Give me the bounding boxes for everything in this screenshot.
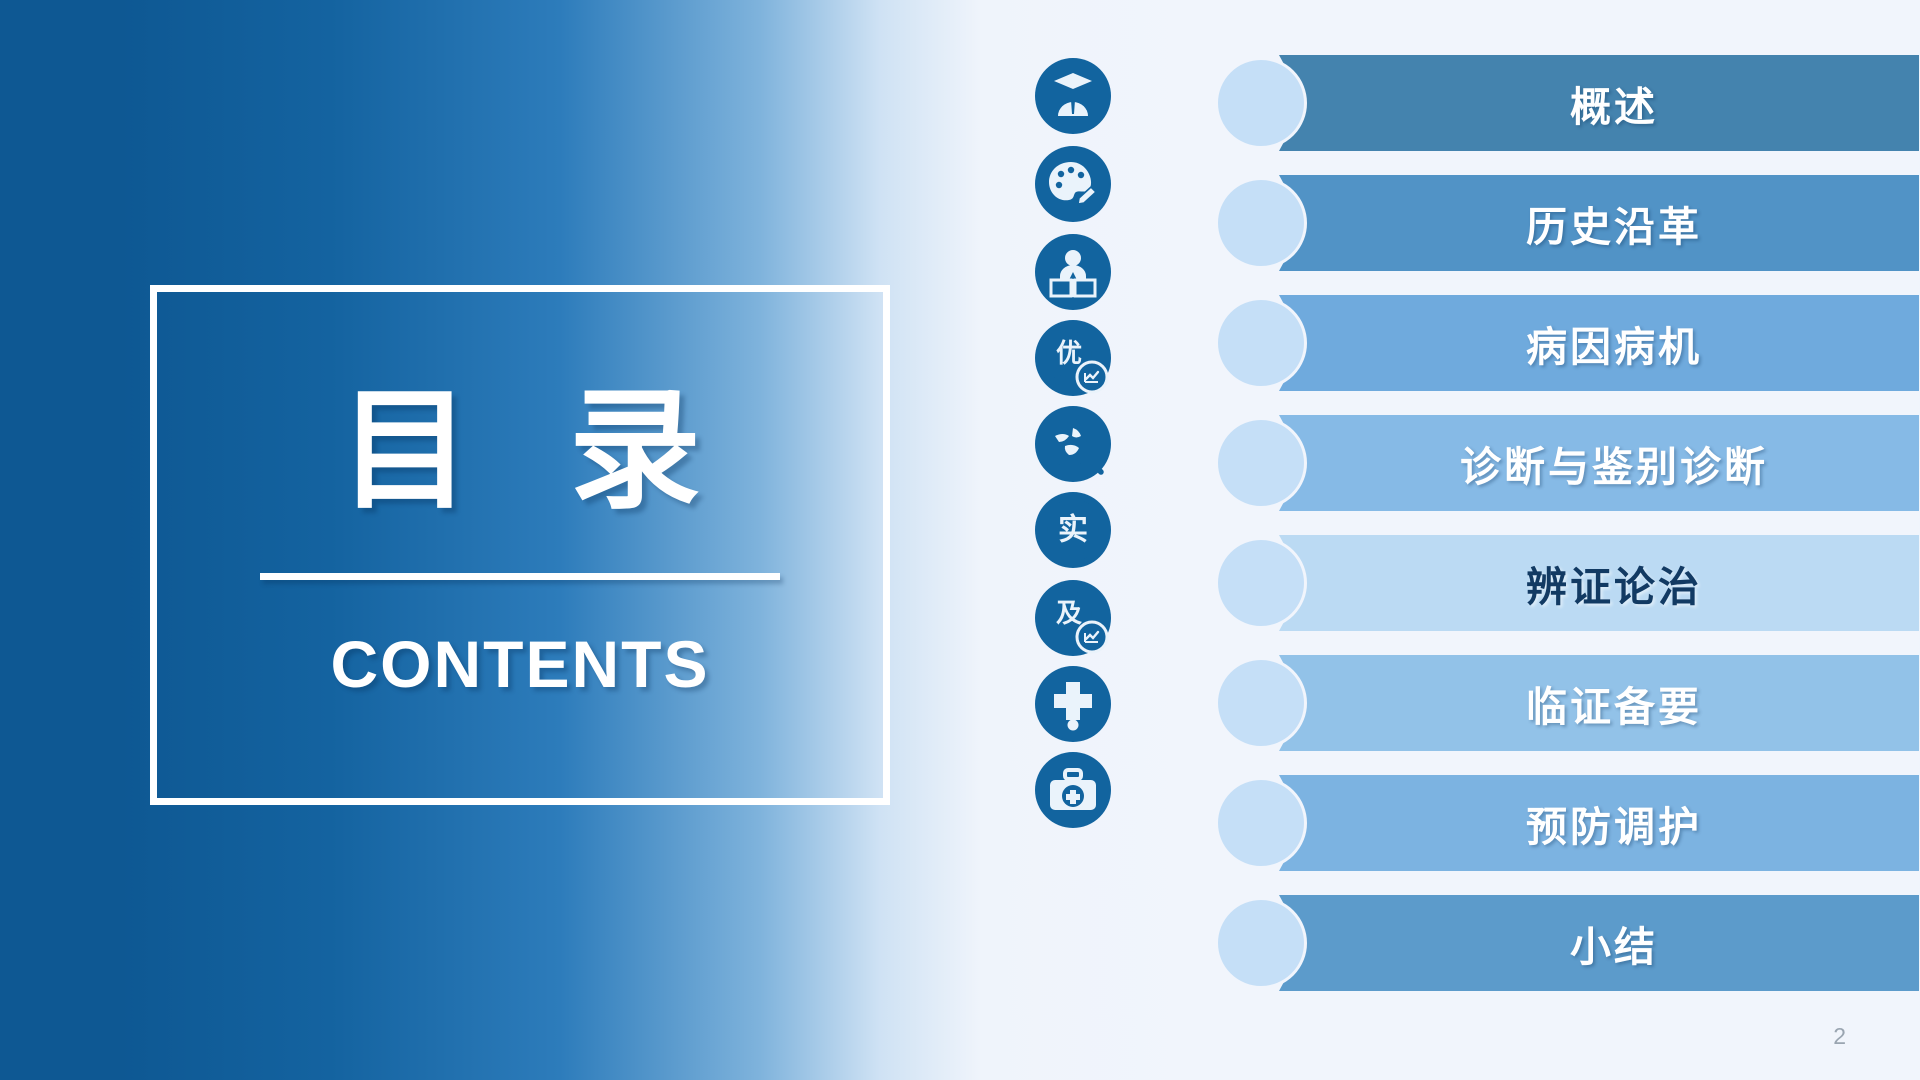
page-number: 2 bbox=[1833, 1023, 1846, 1050]
svg-text:优: 优 bbox=[1056, 339, 1082, 369]
palette-brush-icon bbox=[1035, 146, 1111, 222]
contents-row[interactable]: 概述 bbox=[1215, 55, 1920, 151]
contents-row-bar[interactable]: 辨证论治 bbox=[1279, 535, 1919, 631]
first-aid-kit-icon bbox=[1035, 752, 1111, 828]
contents-row[interactable]: 小结 bbox=[1215, 895, 1920, 991]
contents-row-label: 辨证论治 bbox=[1496, 553, 1702, 613]
contents-row-bullet[interactable] bbox=[1215, 57, 1307, 149]
page-title-en: CONTENTS bbox=[331, 626, 710, 702]
contents-row-label: 小结 bbox=[1540, 913, 1658, 973]
contents-row-bar[interactable]: 临证备要 bbox=[1279, 655, 1919, 751]
contents-row-bar[interactable]: 小结 bbox=[1279, 895, 1919, 991]
contents-row-label: 临证备要 bbox=[1496, 673, 1702, 733]
contents-row-bar[interactable]: 历史沿革 bbox=[1279, 175, 1919, 271]
globe-search-icon bbox=[1035, 406, 1111, 482]
contents-list: 概述历史沿革病因病机诊断与鉴别诊断辨证论治临证备要预防调护小结 bbox=[1215, 0, 1920, 1080]
title-divider bbox=[260, 573, 780, 580]
contents-row-bullet[interactable] bbox=[1215, 177, 1307, 269]
shi-icon: 实 bbox=[1035, 492, 1111, 568]
contents-row[interactable]: 辨证论治 bbox=[1215, 535, 1920, 631]
contents-row-bar[interactable]: 病因病机 bbox=[1279, 295, 1919, 391]
contents-row[interactable]: 历史沿革 bbox=[1215, 175, 1920, 271]
contents-row[interactable]: 诊断与鉴别诊断 bbox=[1215, 415, 1920, 511]
page-title-cn: 目 录 bbox=[313, 382, 727, 521]
contents-row[interactable]: 病因病机 bbox=[1215, 295, 1920, 391]
contents-row-label: 预防调护 bbox=[1496, 793, 1702, 853]
presentation-slide: 目 录 CONTENTS 优实及 概述历史沿革病因病机诊断与鉴别诊断辨证论治临证… bbox=[0, 0, 1920, 1080]
contents-row-bullet[interactable] bbox=[1215, 297, 1307, 389]
contents-row-label: 概述 bbox=[1540, 73, 1658, 133]
contents-row[interactable]: 临证备要 bbox=[1215, 655, 1920, 751]
title-card: 目 录 CONTENTS bbox=[150, 285, 890, 805]
contents-row[interactable]: 预防调护 bbox=[1215, 775, 1920, 871]
svg-text:及: 及 bbox=[1056, 599, 1082, 629]
medical-cross-icon bbox=[1035, 666, 1111, 742]
you-chart-icon: 优 bbox=[1035, 320, 1111, 396]
person-book-icon bbox=[1035, 234, 1111, 310]
ji-chart-icon: 及 bbox=[1035, 580, 1111, 656]
contents-row-bar[interactable]: 预防调护 bbox=[1279, 775, 1919, 871]
contents-row-label: 历史沿革 bbox=[1496, 193, 1702, 253]
graduate-icon bbox=[1035, 58, 1111, 134]
contents-row-label: 病因病机 bbox=[1496, 313, 1702, 373]
contents-row-bar[interactable]: 诊断与鉴别诊断 bbox=[1279, 415, 1919, 511]
contents-row-bullet[interactable] bbox=[1215, 537, 1307, 629]
contents-row-label: 诊断与鉴别诊断 bbox=[1430, 433, 1768, 493]
contents-row-bullet[interactable] bbox=[1215, 657, 1307, 749]
contents-row-bullet[interactable] bbox=[1215, 417, 1307, 509]
contents-row-bullet[interactable] bbox=[1215, 897, 1307, 989]
contents-row-bullet[interactable] bbox=[1215, 777, 1307, 869]
svg-text:实: 实 bbox=[1058, 513, 1088, 548]
contents-row-bar[interactable]: 概述 bbox=[1279, 55, 1919, 151]
icon-rail: 优实及 bbox=[1035, 0, 1145, 1080]
